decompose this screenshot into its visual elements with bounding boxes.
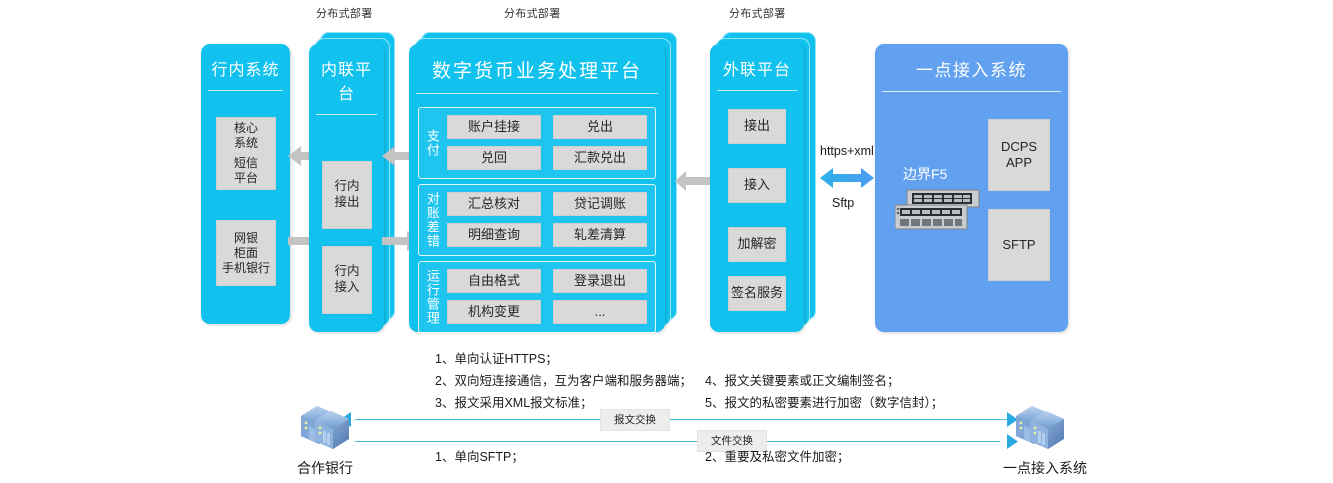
chip-line: 手机银行: [222, 261, 270, 276]
distributed-deployment-label-intranet: 分布式部署: [316, 5, 373, 21]
note-encryption-envelope: 5、报文的私密要素进行加密（数字信封）；: [705, 396, 943, 412]
chip-dcps-app: DCPS APP: [988, 119, 1050, 191]
chip-intra-bank-inbound: 行内 接入: [322, 246, 372, 314]
chip-ebank-counter-mobile: 网银 柜面 手机银行: [216, 220, 276, 286]
panel-intra-bank-system: 行内系统 核心 系统 短信 平台 网银 柜面 手机银行: [201, 44, 290, 324]
group-label-reconciliation: 对账差错: [419, 185, 445, 255]
group-payment: 支付 账户挂接 兑出 兑回 汇款兑出: [418, 107, 656, 179]
chip-line: 接出: [334, 195, 359, 211]
group-label-payment: 支付: [419, 108, 445, 178]
chip-intra-bank-outbound: 行内 接出: [322, 161, 372, 229]
chip-line: 平台: [234, 171, 258, 186]
note-https-auth: 1、单向认证HTTPS；: [435, 352, 558, 368]
chip-line: 柜面: [234, 246, 258, 261]
panel-external-platform: 外联平台 接出 接入 加解密 签名服务: [710, 44, 804, 332]
chip-dcep-item: 汇款兑出: [553, 146, 647, 170]
panel-one-point-access: 一点接入系统 边界F5: [875, 44, 1068, 332]
panel-title-one-point-access: 一点接入系统: [882, 44, 1061, 92]
link-label-https-xml: https+xml: [820, 144, 874, 158]
note-oneway-sftp: 1、单向SFTP；: [435, 450, 524, 466]
chip-line: APP: [1006, 155, 1032, 171]
chip-dcep-item: 机构变更: [447, 300, 541, 324]
chip-signature-service: 签名服务: [728, 276, 786, 311]
chip-core-system-sms-platform: 核心 系统 短信 平台: [216, 117, 276, 190]
label-boundary-f5: 边界F5: [903, 164, 947, 184]
chip-line: 核心: [234, 121, 258, 136]
note-file-encryption: 2、重要及私密文件加密；: [705, 450, 849, 466]
chip-line: 系统: [234, 136, 258, 151]
chip-external-outbound: 接出: [728, 109, 786, 144]
chip-line: 接入: [334, 280, 359, 296]
chip-external-inbound: 接入: [728, 168, 786, 203]
flow-tag-file-exchange: 文件交换: [697, 430, 767, 452]
link-label-sftp: Sftp: [832, 196, 854, 210]
chip-dcep-item: 汇总核对: [447, 192, 541, 216]
chip-line: DCPS: [1001, 139, 1037, 155]
chip-dcep-item: ...: [553, 300, 647, 324]
distributed-deployment-label-external: 分布式部署: [729, 5, 786, 21]
group-label-operations-management: 运行管理: [419, 262, 445, 332]
chip-dcep-item: 账户挂接: [447, 115, 541, 139]
flow-tag-message-exchange: 报文交换: [600, 409, 670, 431]
panel-title-dcep-platform: 数字货币业务处理平台: [416, 44, 658, 94]
server-icon-partner-bank: [295, 400, 351, 450]
chip-line: 网银: [234, 231, 258, 246]
server-icon-one-point-access: [1010, 400, 1066, 450]
chip-dcep-item: 明细查询: [447, 223, 541, 247]
note-signature: 4、报文关键要素或正文编制签名；: [705, 374, 899, 390]
panel-title-intranet-platform: 内联平台: [316, 44, 377, 115]
note-bidirectional-comm: 2、双向短连接通信，互为客户端和服务器端；: [435, 374, 692, 390]
note-xml-standard: 3、报文采用XML报文标准；: [435, 396, 593, 412]
panel-title-intra-bank-system: 行内系统: [208, 44, 283, 91]
chip-line: 行内: [334, 264, 359, 280]
network-appliance-icon: [895, 189, 981, 231]
chip-sftp: SFTP: [988, 209, 1050, 281]
panel-intranet-platform: 内联平台 行内 接出 行内 接入: [309, 44, 384, 332]
chip-dcep-item: 兑回: [447, 146, 541, 170]
chip-dcep-item: 兑出: [553, 115, 647, 139]
group-reconciliation: 对账差错 汇总核对 贷记调账 明细查询 轧差清算: [418, 184, 656, 256]
chip-line: 行内: [334, 179, 359, 195]
arrow-external-to-access-bidirectional-icon: [820, 165, 874, 191]
chip-dcep-item: 贷记调账: [553, 192, 647, 216]
chip-line: 短信: [234, 156, 258, 171]
chip-dcep-item: 轧差清算: [553, 223, 647, 247]
chip-dcep-item: 登录退出: [553, 269, 647, 293]
panel-title-external-platform: 外联平台: [717, 44, 797, 91]
panel-dcep-platform: 数字货币业务处理平台 支付 账户挂接 兑出 兑回 汇款兑出 对账差错 汇总核对 …: [409, 44, 665, 332]
server-label-one-point-access: 一点接入系统: [985, 458, 1105, 478]
server-label-partner-bank: 合作银行: [275, 458, 375, 478]
chip-dcep-item: 自由格式: [447, 269, 541, 293]
flow-line-file-exchange: [355, 441, 1000, 442]
distributed-deployment-label-dcep: 分布式部署: [504, 5, 561, 21]
chip-encryption-decryption: 加解密: [728, 227, 786, 262]
group-operations-management: 运行管理 自由格式 登录退出 机构变更 ...: [418, 261, 656, 333]
flow-line-message-exchange: [355, 419, 1023, 420]
architecture-diagram: 分布式部署 分布式部署 分布式部署 行内系统 核心 系统 短信 平台 网银 柜面…: [0, 0, 1333, 483]
